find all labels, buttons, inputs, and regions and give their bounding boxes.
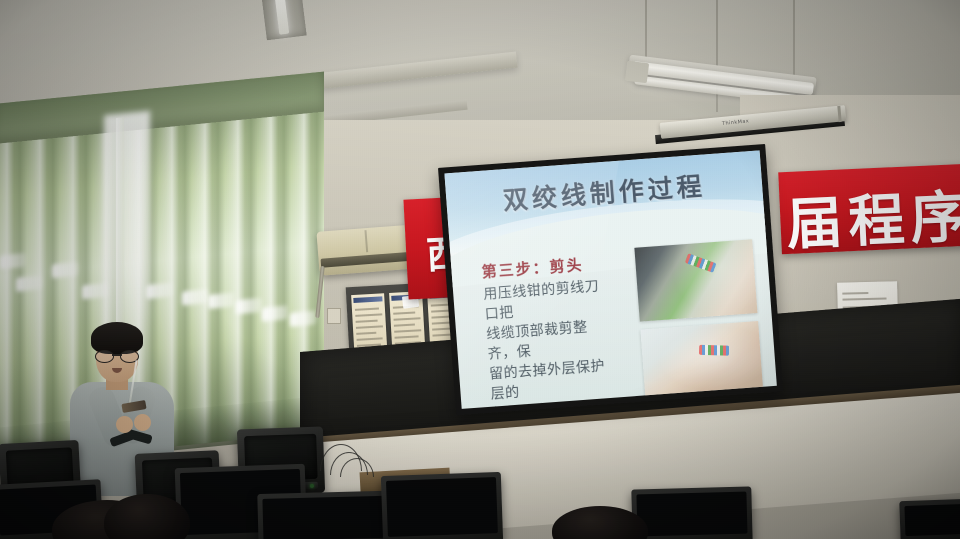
slide-surface: 双绞线制作过程 第三步：剪头 用压线钳的剪线刀口把 线缆顶部裁剪整齐，保 留的去… xyxy=(444,150,776,409)
tube-endcap-right xyxy=(625,61,649,84)
classroom-photo: 西 届程序 ThinkMax 双绞线制作过程 第三步：剪头 用压线钳的剪线刀口把… xyxy=(0,0,960,539)
lcd-monitor xyxy=(631,486,752,539)
slide-photo-bottom-caption xyxy=(652,365,755,390)
monitor-screen[interactable] xyxy=(636,492,747,537)
hanging-rod-projector-b xyxy=(716,0,718,112)
slide-body-text: 用压线钳的剪线刀口把 线缆顶部裁剪整齐，保 留的去掉外层保护层的 部分约为15m… xyxy=(483,276,630,409)
lcd-monitor xyxy=(381,472,503,539)
housing-brand-logo: ThinkMax xyxy=(722,118,750,127)
curtain-highlight xyxy=(290,310,316,327)
poster-header xyxy=(353,296,382,303)
recessed-ceiling-light xyxy=(261,0,306,40)
monitor-screen[interactable] xyxy=(904,504,960,536)
curtain-highlight xyxy=(0,253,26,270)
slide-photo-top xyxy=(634,239,757,321)
curtain-highlight xyxy=(182,289,208,306)
curtain-highlight xyxy=(16,275,42,292)
monitor-screen[interactable] xyxy=(386,477,498,537)
wall-switch-box xyxy=(327,308,341,324)
banner-right-text: 届程序 xyxy=(785,172,960,255)
lcd-monitor xyxy=(899,499,960,539)
curtain-highlight xyxy=(146,283,172,300)
curtain-highlight xyxy=(208,292,234,309)
projection-screen: 双绞线制作过程 第三步：剪头 用压线钳的剪线刀口把 线缆顶部裁剪整齐，保 留的去… xyxy=(438,144,783,415)
cable-wires-illustration xyxy=(684,253,716,273)
curtain-highlight xyxy=(262,305,288,322)
curtain-highlight xyxy=(82,283,108,300)
presenter-hand-left xyxy=(116,416,133,433)
slide-photo-top-caption xyxy=(646,284,749,309)
hanging-rod-projector-a xyxy=(645,0,647,62)
presenter-hand-right xyxy=(134,414,151,431)
glasses-icon xyxy=(95,350,139,361)
cable-wires-illustration xyxy=(699,345,729,356)
banner-right: 届程序 xyxy=(778,164,960,255)
curtain-highlight xyxy=(52,262,78,279)
curtain-highlight xyxy=(236,298,262,315)
